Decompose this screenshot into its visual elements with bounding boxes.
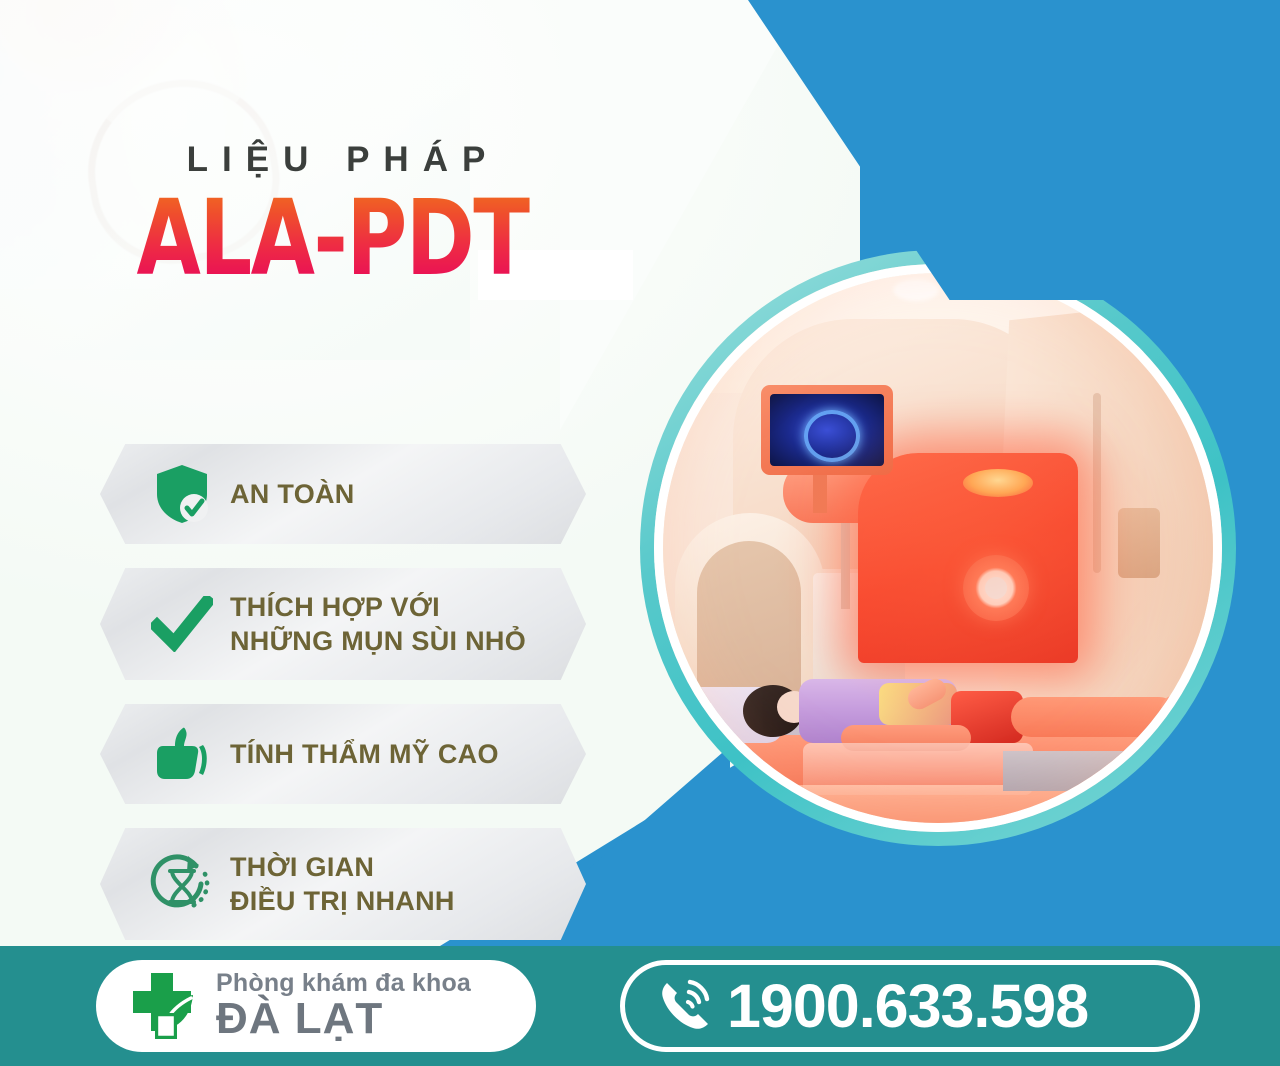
feature-badge-an-toan[interactable]: AN TOÀN: [100, 444, 586, 544]
headline-block: LIỆU PHÁP ALA-PDT: [0, 140, 660, 290]
thumbs-up-icon: [134, 725, 230, 783]
feature-badge-tham-my[interactable]: TÍNH THẨM MỸ CAO: [100, 704, 586, 804]
feature-label-line1: AN TOÀN: [230, 479, 355, 509]
phone-number: 1900.633.598: [727, 976, 1088, 1037]
treatment-photo: [654, 264, 1222, 832]
clinic-name: ĐÀ LẠT: [216, 997, 471, 1042]
treatment-photo-image: [663, 273, 1213, 823]
clinic-subtitle: Phòng khám đa khoa: [216, 970, 471, 996]
clinic-logo-pill[interactable]: Phòng khám đa khoa ĐÀ LẠT: [96, 960, 536, 1052]
feature-badge-thoi-gian[interactable]: THỜI GIAN ĐIỀU TRỊ NHANH: [100, 828, 586, 940]
feature-badge-label: AN TOÀN: [230, 477, 355, 511]
feature-label-line1: TÍNH THẨM MỸ CAO: [230, 739, 499, 769]
headline-brand: ALA-PDT: [66, 186, 594, 290]
feature-label-line2: NHỮNG MỤN SÙI NHỎ: [230, 624, 526, 658]
feature-badge-thich-hop[interactable]: THÍCH HỢP VỚI NHỮNG MỤN SÙI NHỎ: [100, 568, 586, 680]
feature-label-line1: THỜI GIAN: [230, 850, 455, 884]
footer-bar: Phòng khám đa khoa ĐÀ LẠT 1900.633.598: [0, 946, 1280, 1066]
phone-cta-pill[interactable]: 1900.633.598: [620, 960, 1200, 1052]
hourglass-clock-icon: [134, 852, 230, 916]
feature-badge-label: THÍCH HỢP VỚI NHỮNG MỤN SÙI NHỎ: [230, 590, 526, 658]
clinic-name-block: Phòng khám đa khoa ĐÀ LẠT: [216, 970, 471, 1041]
feature-badge-list: AN TOÀN THÍCH HỢP VỚI NHỮNG MỤN SÙI NHỎ: [100, 444, 590, 964]
medical-cross-leaf-icon: [114, 967, 210, 1045]
shield-check-icon: [134, 463, 230, 525]
feature-badge-label: THỜI GIAN ĐIỀU TRỊ NHANH: [230, 850, 455, 918]
feature-label-line2: ĐIỀU TRỊ NHANH: [230, 884, 455, 918]
phone-ringing-icon: [643, 975, 727, 1037]
treatment-photo-ring: [640, 250, 1236, 846]
banner-canvas: LIỆU PHÁP ALA-PDT AN TOÀN: [0, 0, 1280, 1066]
check-icon: [134, 596, 230, 652]
feature-badge-label: TÍNH THẨM MỸ CAO: [230, 737, 499, 771]
headline-kicker: LIỆU PHÁP: [0, 140, 660, 180]
feature-label-line1: THÍCH HỢP VỚI: [230, 590, 526, 624]
